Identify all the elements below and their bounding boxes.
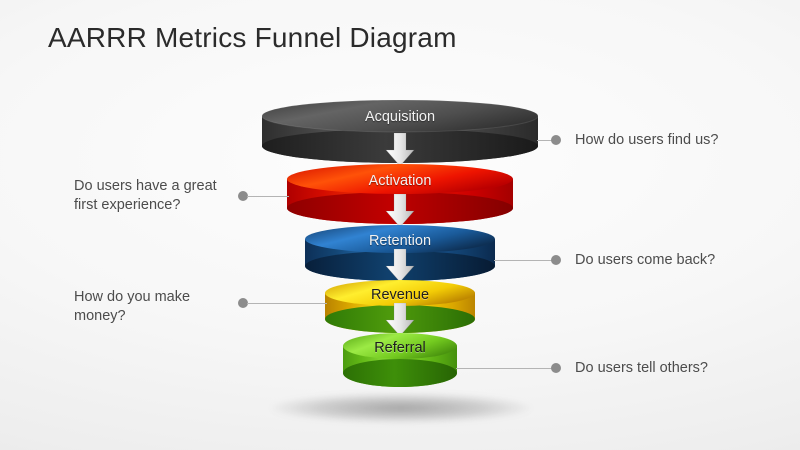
callout-acquisition-question: How do users find us? — [575, 131, 785, 150]
funnel-tier-referral[interactable]: Referral — [343, 333, 457, 389]
callout-activation-question: Do users have a great first experience? — [74, 177, 254, 215]
funnel-diagram: Acquisition — [0, 0, 800, 450]
funnel-arrow-down-1 — [385, 133, 415, 167]
funnel-arrow-down-2 — [385, 194, 415, 228]
callout-revenue-question: How do you make money? — [74, 288, 254, 326]
funnel-arrow-down-4 — [385, 303, 415, 337]
connector-line-retention — [494, 260, 553, 261]
connector-line-revenue — [247, 303, 327, 304]
connector-dot-acquisition — [551, 135, 561, 145]
connector-line-activation — [247, 196, 289, 197]
connector-dot-referral — [551, 363, 561, 373]
connector-line-referral — [456, 368, 553, 369]
connector-dot-retention — [551, 255, 561, 265]
funnel-arrow-down-3 — [385, 249, 415, 283]
callout-referral-question: Do users tell others? — [575, 359, 785, 378]
callout-retention-question: Do users come back? — [575, 251, 785, 270]
slide-canvas: AARRR Metrics Funnel Diagram — [0, 0, 800, 450]
